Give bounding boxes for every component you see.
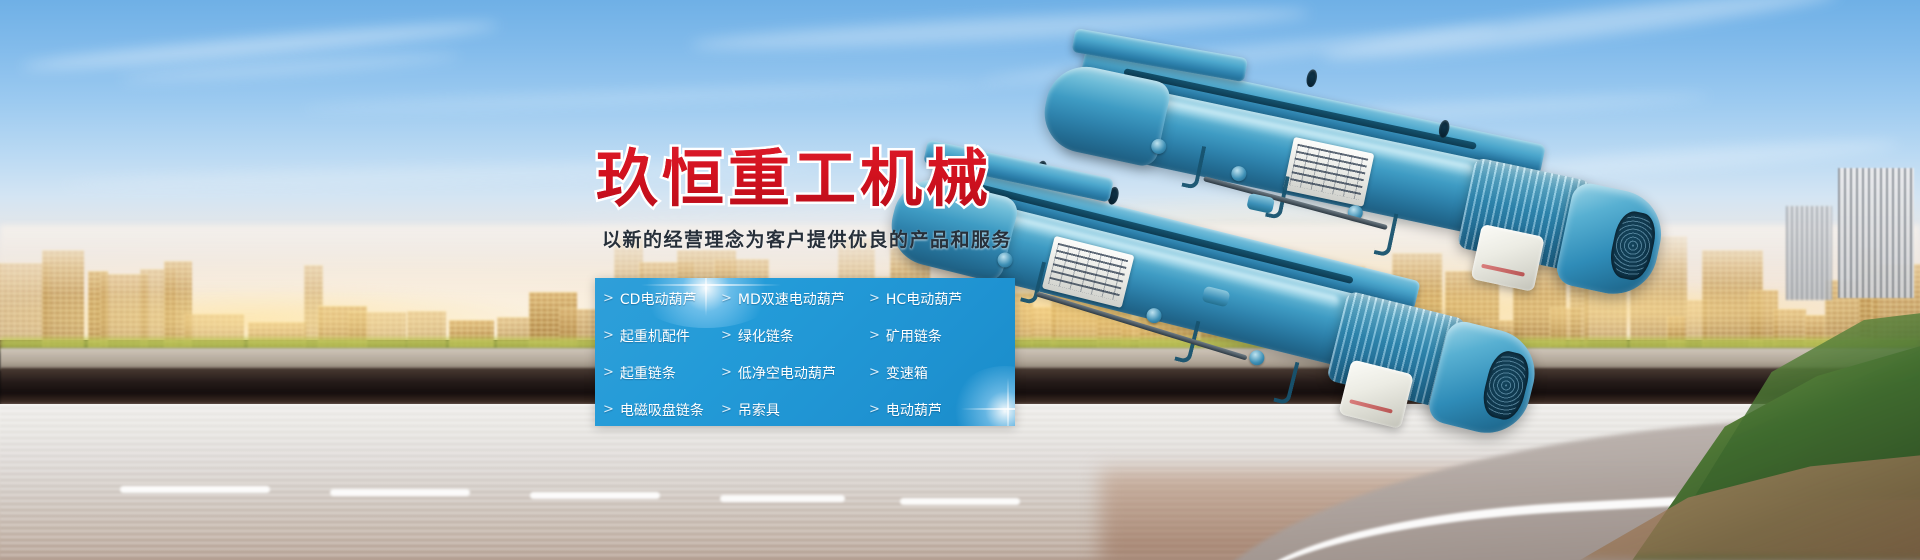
product-link-label: MD双速电动葫芦: [738, 289, 845, 309]
chevron-right-icon: >: [869, 366, 880, 379]
road-dash: [530, 492, 660, 499]
product-link[interactable]: >起重链条: [603, 363, 721, 383]
product-link[interactable]: >变速箱: [869, 363, 1015, 383]
product-link-label: CD电动葫芦: [620, 289, 697, 309]
product-link-label: 变速箱: [886, 363, 928, 383]
road-dash: [120, 486, 270, 493]
product-link-label: 吊索具: [738, 400, 780, 420]
product-link[interactable]: >CD电动葫芦: [603, 289, 721, 309]
product-link[interactable]: >矿用链条: [869, 326, 1015, 346]
product-link[interactable]: >电磁吸盘链条: [603, 400, 721, 420]
chevron-right-icon: >: [869, 403, 880, 416]
product-link[interactable]: >MD双速电动葫芦: [721, 289, 869, 309]
chevron-right-icon: >: [721, 292, 732, 305]
product-link[interactable]: >起重机配件: [603, 326, 721, 346]
product-link-label: 绿化链条: [738, 326, 794, 346]
product-link-label: 电动葫芦: [886, 400, 942, 420]
product-link[interactable]: >HC电动葫芦: [869, 289, 1015, 309]
office-tower: [1838, 168, 1914, 298]
hoist-front-bolt: [1248, 349, 1266, 367]
chevron-right-icon: >: [603, 403, 614, 416]
chevron-right-icon: >: [869, 329, 880, 342]
product-link-label: 起重链条: [620, 363, 676, 383]
page-title: 玖恒重工机械: [596, 128, 992, 218]
product-link[interactable]: >电动葫芦: [869, 400, 1015, 420]
chevron-right-icon: >: [603, 292, 614, 305]
chevron-right-icon: >: [721, 403, 732, 416]
product-link[interactable]: >低净空电动葫芦: [721, 363, 869, 383]
hero-banner: 玖恒重工机械 玖恒重工机械 以新的经营理念为客户提供优良的产品和服务 >CD电动…: [0, 0, 1920, 560]
hoist-front-clamp: [1273, 359, 1299, 406]
office-tower-small: [1786, 206, 1832, 300]
product-link-label: 电磁吸盘链条: [620, 400, 704, 420]
product-link[interactable]: >绿化链条: [721, 326, 869, 346]
product-links-grid: >CD电动葫芦>MD双速电动葫芦>HC电动葫芦>起重机配件>绿化链条>矿用链条>…: [595, 278, 1015, 426]
chevron-right-icon: >: [721, 329, 732, 342]
product-links-panel: >CD电动葫芦>MD双速电动葫芦>HC电动葫芦>起重机配件>绿化链条>矿用链条>…: [595, 278, 1015, 426]
product-link-label: 低净空电动葫芦: [738, 363, 836, 383]
product-link-label: HC电动葫芦: [886, 289, 962, 309]
hoist-back-lug-hole: [1305, 68, 1319, 88]
page-subtitle: 以新的经营理念为客户提供优良的产品和服务: [602, 225, 1012, 252]
hoist-back-fan-cover: [1606, 208, 1659, 283]
chevron-right-icon: >: [603, 366, 614, 379]
chevron-right-icon: >: [721, 366, 732, 379]
product-link-label: 起重机配件: [620, 326, 690, 346]
road-dash: [330, 489, 470, 496]
product-link[interactable]: >吊索具: [721, 400, 869, 420]
product-link-label: 矿用链条: [886, 326, 942, 346]
chevron-right-icon: >: [603, 329, 614, 342]
chevron-right-icon: >: [869, 292, 880, 305]
road-dash: [720, 495, 845, 502]
road-dash: [900, 498, 1020, 505]
